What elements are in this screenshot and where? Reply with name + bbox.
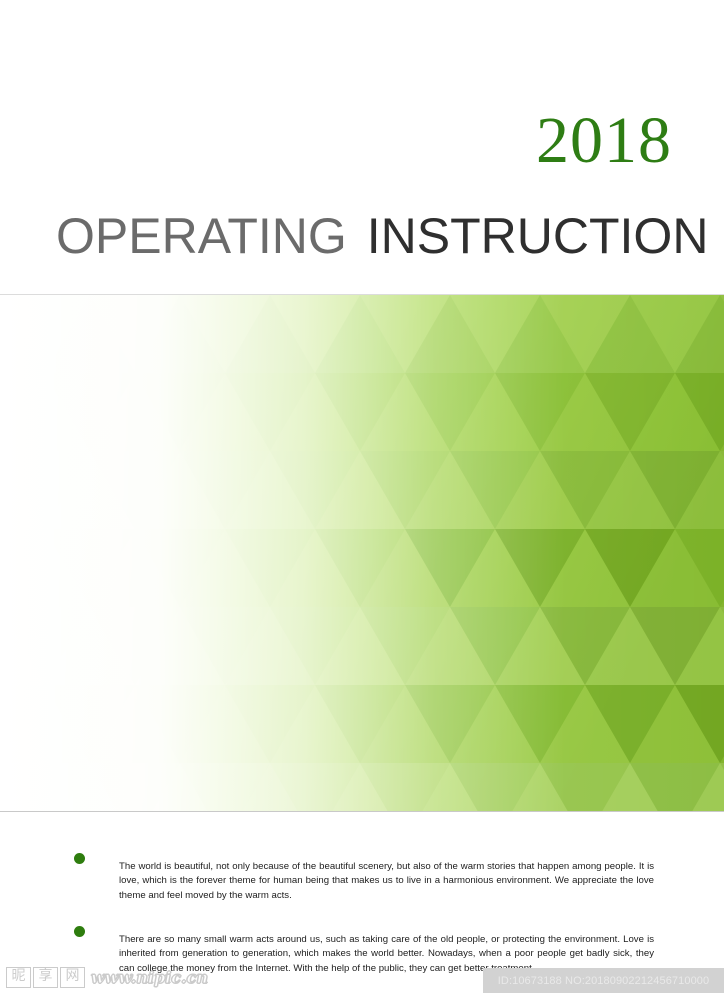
header-area: 2018 OPERATINGINSTRUCTION xyxy=(0,0,724,294)
page-title: OPERATINGINSTRUCTION xyxy=(56,208,706,264)
page-title-word-operating: OPERATING xyxy=(56,208,347,264)
bullet-icon xyxy=(74,926,85,937)
page-title-word-instruction: INSTRUCTION xyxy=(367,208,709,264)
decorative-banner xyxy=(0,294,724,812)
paragraph-text: The world is beautiful, not only because… xyxy=(119,860,654,904)
poster-page: 2018 OPERATINGINSTRUCTION xyxy=(0,0,724,993)
body-content: The world is beautiful, not only because… xyxy=(0,812,724,993)
id-bar-text: ID:10673188 NO:20180902212456710000 xyxy=(498,975,709,987)
id-bar: ID:10673188 NO:20180902212456710000 xyxy=(483,968,724,993)
triangle-mosaic-graphic xyxy=(0,295,724,812)
bullet-icon xyxy=(74,853,85,864)
paragraph-item: The world is beautiful, not only because… xyxy=(0,850,724,913)
year-heading: 2018 xyxy=(536,108,672,174)
